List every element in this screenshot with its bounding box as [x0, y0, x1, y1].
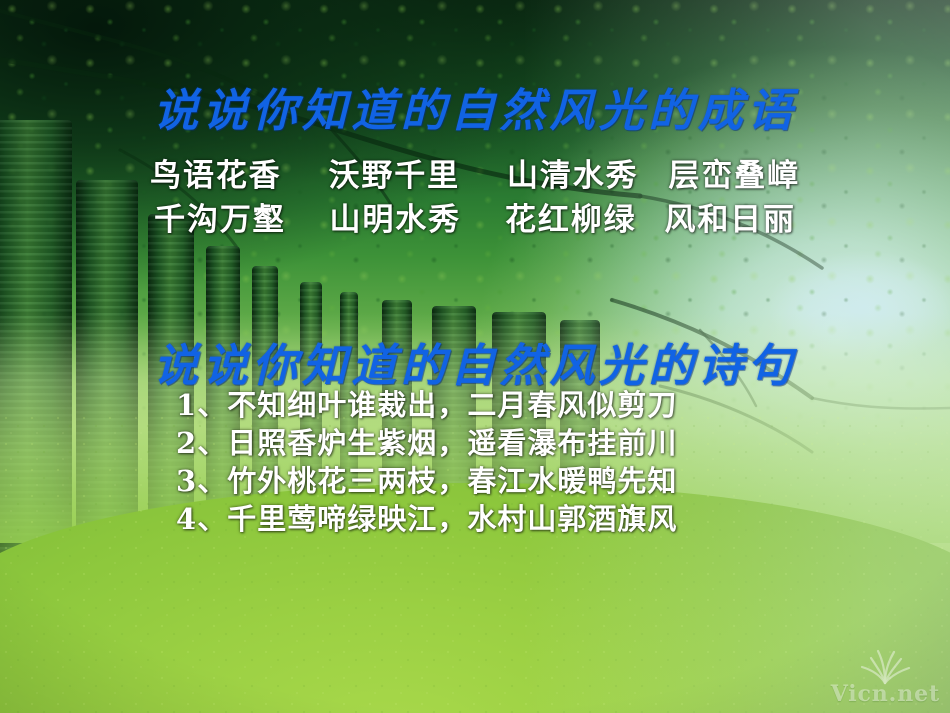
idiom-item: 山清水秀 [507, 154, 638, 198]
poems-list: 1、不知细叶谁裁出，二月春风似剪刀 2、日照香炉生紫烟，遥看瀑布挂前川 3、竹外… [176, 386, 677, 538]
idiom-item: 花红柳绿 [505, 198, 636, 242]
grass-sprout-icon [854, 645, 916, 685]
idiom-item: 沃野千里 [329, 154, 460, 198]
poems-section-title: 说说你知道的自然风光的诗句 [0, 329, 950, 394]
poem-line: 4、千里莺啼绿映江，水村山郭酒旗风 [176, 500, 677, 538]
watermark: Vicn.net [831, 645, 940, 707]
poem-line: 2、日照香炉生紫烟，遥看瀑布挂前川 [176, 424, 677, 462]
idiom-row: 鸟语花香 沃野千里 山清水秀 层峦叠嶂 [0, 154, 950, 198]
idiom-item: 风和日丽 [664, 198, 795, 242]
idiom-item: 山明水秀 [330, 198, 461, 242]
idiom-item: 鸟语花香 [150, 154, 281, 198]
idiom-item: 层峦叠嶂 [668, 154, 799, 198]
idiom-row: 千沟万壑 山明水秀 花红柳绿 风和日丽 [0, 198, 950, 242]
idiom-item: 千沟万壑 [154, 198, 285, 242]
poem-line: 1、不知细叶谁裁出，二月春风似剪刀 [176, 386, 677, 424]
idioms-list: 鸟语花香 沃野千里 山清水秀 层峦叠嶂 千沟万壑 山明水秀 花红柳绿 风和日丽 [0, 154, 950, 242]
idioms-section-title: 说说你知道的自然风光的成语 [0, 74, 950, 139]
slide-content: 说说你知道的自然风光的成语 鸟语花香 沃野千里 山清水秀 层峦叠嶂 千沟万壑 山… [0, 0, 950, 713]
watermark-text: Vicn.net [831, 681, 940, 707]
presentation-slide: 说说你知道的自然风光的成语 鸟语花香 沃野千里 山清水秀 层峦叠嶂 千沟万壑 山… [0, 0, 950, 713]
poem-line: 3、竹外桃花三两枝，春江水暖鸭先知 [176, 462, 677, 500]
